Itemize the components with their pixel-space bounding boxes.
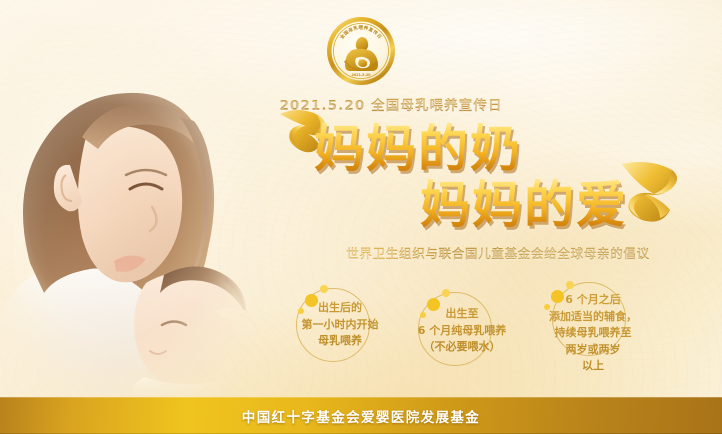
emblem-date-text: 2021.5.20 xyxy=(351,73,371,77)
tip-2-line-2: 6 个月纯母乳喂养 xyxy=(410,323,514,340)
tip-2-line-1: 出生至 xyxy=(410,306,514,323)
poster-title: 妈妈的奶 妈妈的爱 xyxy=(300,122,700,234)
tip-3-line-1: 6 个月之后 xyxy=(534,292,652,309)
tip-3-line-2: 添加适当的辅食， xyxy=(534,309,652,326)
footer-bar: 中国红十字基金会爱婴医院发展基金 xyxy=(0,397,722,434)
tip-1-line-1: 出生后的 xyxy=(288,300,392,317)
footer-text: 中国红十字基金会爱婴医院发展基金 xyxy=(242,406,480,426)
breastfeeding-day-emblem: 全国母乳喂养宣传日 Breastfeeding Day 2021.5.20 xyxy=(326,16,396,86)
title-line-2: 妈妈的爱 xyxy=(420,178,700,232)
tip-text-3: 6 个月之后 添加适当的辅食， 持续母乳喂养至 两岁或两岁 以上 xyxy=(534,276,652,375)
tip-3-line-4: 两岁或两岁 xyxy=(534,342,652,359)
tip-1-line-3: 母乳喂养 xyxy=(288,333,392,350)
poster-subtitle: 世界卫生组织与联合国儿童基金会给全球母亲的倡议 xyxy=(290,243,706,262)
tips-group: 出生后的 第一小时内开始 母乳喂养 出生至 6 个月纯母乳喂养 （不必要喂水） … xyxy=(288,276,688,380)
tip-3-line-3: 持续母乳喂养至 xyxy=(534,325,652,342)
tip-text-2: 出生至 6 个月纯母乳喂养 （不必要喂水） xyxy=(410,284,514,356)
event-date-line: 2021.5.20 全国母乳喂养宣传日 xyxy=(0,94,722,114)
tip-six-months: 出生至 6 个月纯母乳喂养 （不必要喂水） xyxy=(410,284,514,356)
tip-3-line-5: 以上 xyxy=(534,358,652,375)
mother-kissing-baby-photo xyxy=(0,25,266,397)
tip-2-line-3: （不必要喂水） xyxy=(410,339,514,356)
tip-1-line-2: 第一小时内开始 xyxy=(288,317,392,334)
tip-first-hour: 出生后的 第一小时内开始 母乳喂养 xyxy=(288,280,392,350)
breastfeeding-day-poster: 全国母乳喂养宣传日 Breastfeeding Day 2021.5.20 20… xyxy=(0,0,722,434)
title-line-1: 妈妈的奶 xyxy=(314,122,700,176)
tip-after-six-months: 6 个月之后 添加适当的辅食， 持续母乳喂养至 两岁或两岁 以上 xyxy=(534,276,652,375)
tip-text-1: 出生后的 第一小时内开始 母乳喂养 xyxy=(288,280,392,350)
